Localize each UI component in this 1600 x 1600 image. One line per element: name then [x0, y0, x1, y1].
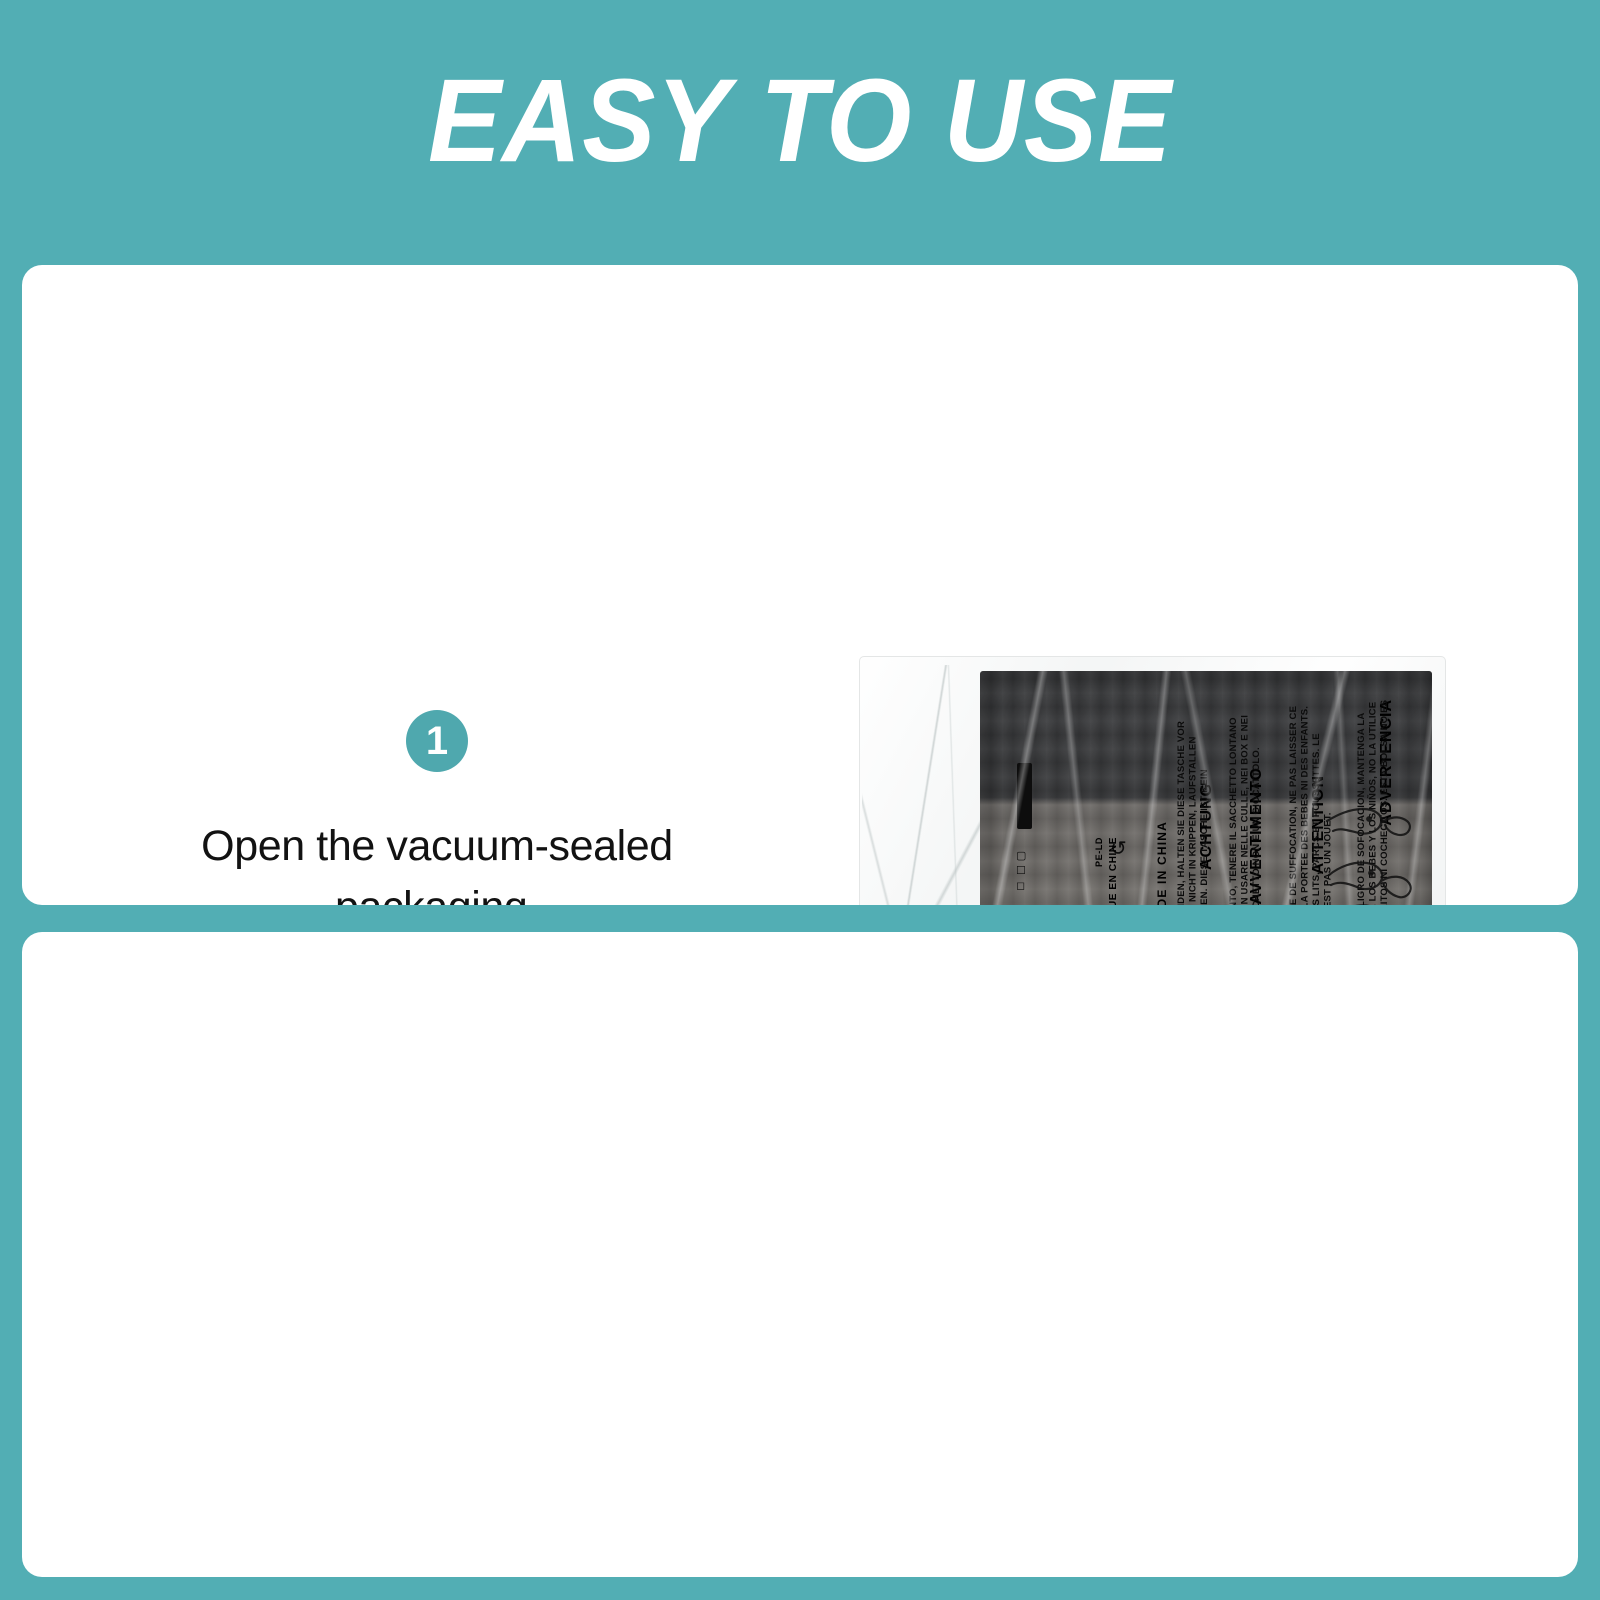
- step-card-2: 24: [22, 932, 1578, 1577]
- infographic-page: EASY TO USE ▢☐◻ ♻ ↺ PE-LD FABRIQUE EN CH…: [0, 0, 1600, 1600]
- vacuum-sealed-package-photo: ▢☐◻ ♻ ↺ PE-LD FABRIQUE EN CHINE MADE IN …: [860, 657, 1445, 905]
- step-1-description: Open the vacuum-sealed packaging, no ass…: [117, 816, 757, 905]
- page-title: EASY TO USE: [428, 62, 1172, 180]
- step-1-badge: 1: [406, 710, 468, 772]
- step-1-text-block: 1 Open the vacuum-sealed packaging, no a…: [117, 710, 757, 905]
- step-1-line-1: Open the vacuum-sealed: [117, 816, 757, 877]
- suffocation-warning-pictogram-icon: [1319, 775, 1439, 905]
- step-card-1: ▢☐◻ ♻ ↺ PE-LD FABRIQUE EN CHINE MADE IN …: [22, 265, 1578, 905]
- step-1-line-2: packaging,: [117, 877, 757, 905]
- plastic-bag: ▢☐◻ ♻ ↺ PE-LD FABRIQUE EN CHINE MADE IN …: [860, 657, 1445, 905]
- header-banner: EASY TO USE: [0, 0, 1600, 250]
